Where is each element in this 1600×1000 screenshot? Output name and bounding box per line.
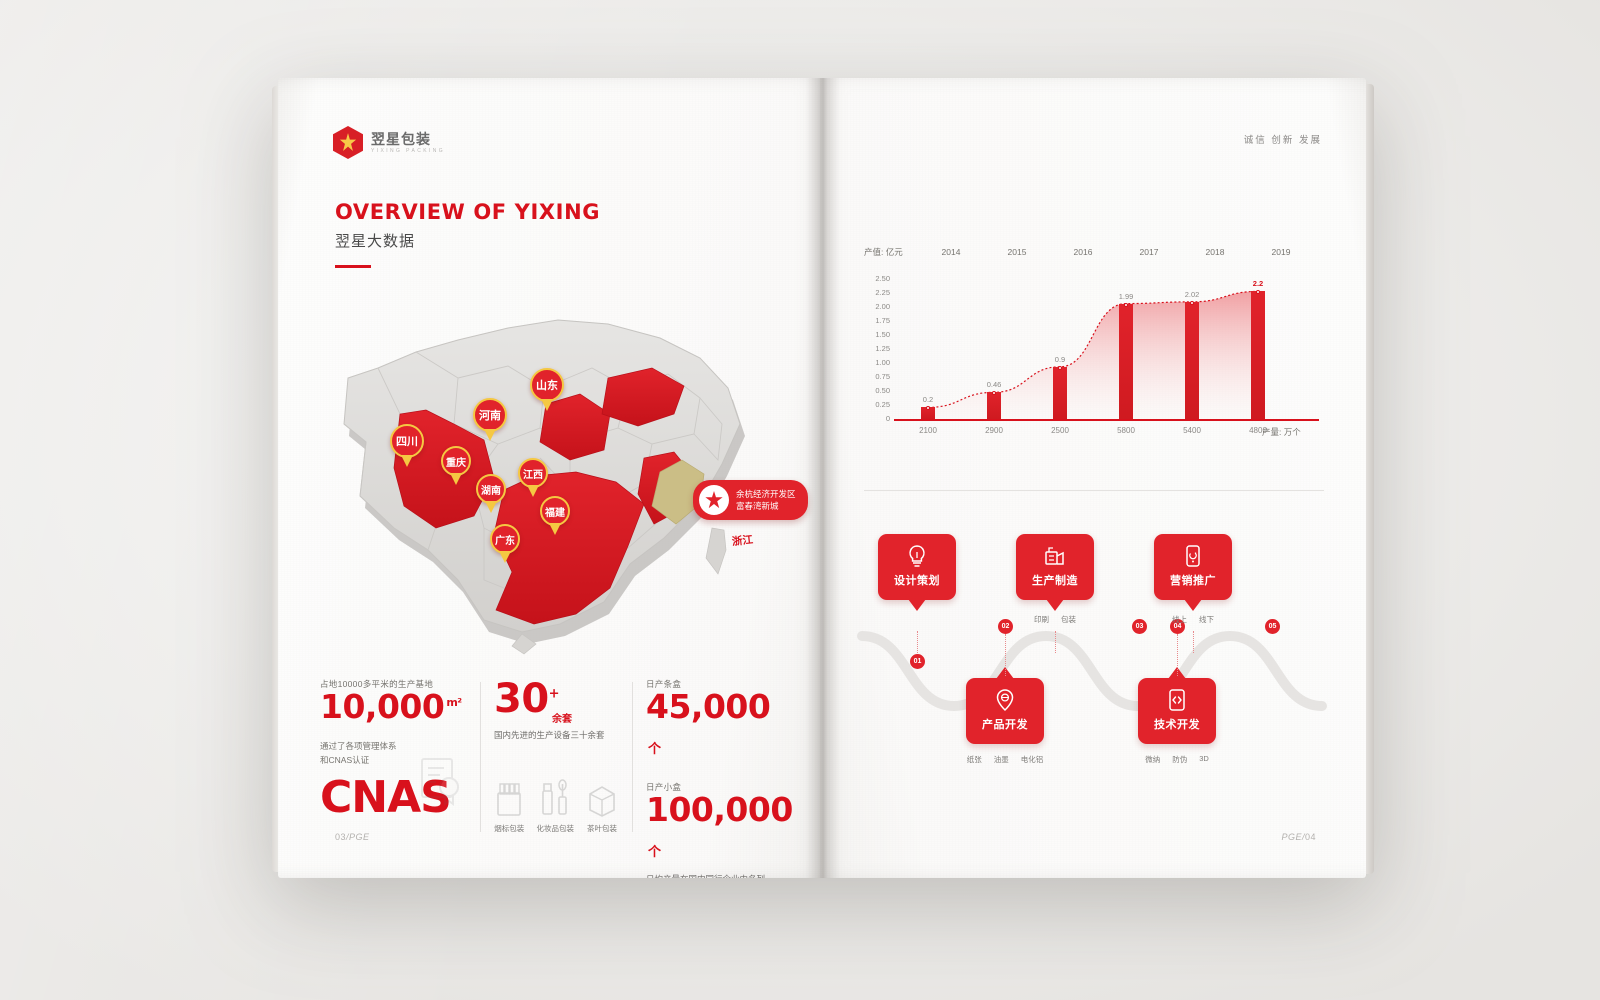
package-type-item: 烟标包装	[494, 771, 525, 834]
map-pin-label: 四川	[390, 424, 424, 458]
page-number-right: PGE/04	[1281, 832, 1316, 842]
map-pin-label: 重庆	[441, 446, 471, 476]
process-tags-product: 纸张 油墨 电化铝	[950, 754, 1060, 765]
left-page: 翌星包装 YIXING PACKING OVERVIEW OF YIXING 翌…	[278, 78, 824, 878]
y-tick: 2.50	[864, 274, 890, 283]
chart-value-label: 0.46	[987, 380, 1002, 389]
map-pin-label: 河南	[473, 398, 507, 432]
chart-bar	[987, 392, 1001, 419]
process-tag: 印刷	[1034, 614, 1049, 625]
process-card-product[interactable]: 产品开发	[966, 678, 1044, 744]
pin-tail	[549, 523, 561, 535]
pin-tail	[541, 399, 553, 411]
lightbulb-icon	[878, 534, 956, 568]
package-type-label: 化妆品包装	[537, 823, 575, 834]
map-pin-guangdong[interactable]: 广东	[490, 524, 520, 568]
chart-value-label: 0.9	[1055, 355, 1065, 364]
y-tick: 0.25	[864, 400, 890, 409]
chart-value-label: 2.02	[1185, 290, 1200, 299]
carton-unit: 个	[648, 742, 661, 757]
tea-box-icon	[586, 771, 618, 817]
process-tag: 油墨	[994, 754, 1009, 765]
map-pin-fujian[interactable]: 福建	[540, 496, 570, 540]
card-pointer	[1046, 599, 1064, 611]
y-tick: 2.25	[864, 288, 890, 297]
connector-dots	[917, 631, 918, 653]
process-tag: 包装	[1061, 614, 1076, 625]
section-divider	[864, 490, 1324, 491]
chart-output-label: 5800	[1117, 426, 1135, 435]
chart-point	[1256, 290, 1260, 294]
map-pin-henan[interactable]: 河南	[473, 398, 507, 442]
chart-point	[1058, 366, 1062, 370]
pin-tail	[450, 473, 462, 485]
process-step-number: 05	[1265, 619, 1280, 634]
chart-ylabel: 产值: 亿元	[864, 246, 918, 258]
stat-area-cert: 占地10000多平米的生产基地 10,000m² 通过了各项管理体系 和CNAS…	[320, 678, 480, 848]
certificate-seal-icon	[418, 756, 464, 806]
mobile-phone-icon	[1154, 534, 1232, 568]
chart-value-label: 1.99	[1119, 292, 1134, 301]
factory-icon	[1016, 534, 1094, 568]
process-tag: 微纳	[1145, 754, 1160, 765]
process-tag: 防伪	[1172, 754, 1187, 765]
package-type-label: 茶叶包装	[586, 823, 618, 834]
star-marker-icon	[699, 485, 729, 515]
chart-year-tick: 2016	[1050, 247, 1116, 257]
process-tag: 纸张	[967, 754, 982, 765]
chart-bars: 0.20.460.91.992.022.2	[894, 274, 1319, 419]
map-pin-label: 湖南	[476, 474, 506, 504]
process-card-label: 产品开发	[966, 712, 1044, 744]
y-tick: 1.25	[864, 344, 890, 353]
map-svg	[308, 228, 808, 658]
process-tags-manufacture: 印刷 包装	[1000, 614, 1110, 625]
chart-baseline	[894, 419, 1319, 421]
carton-value: 45,000个	[646, 690, 768, 759]
code-document-icon	[1138, 678, 1216, 712]
pin-tail	[485, 501, 497, 513]
connector-dots	[1177, 634, 1178, 676]
chart-header-row: 产值: 亿元 2014 2015 2016 2017 2018 2019	[864, 246, 1324, 258]
process-card-marketing[interactable]: 营销推广	[1154, 534, 1232, 600]
cigarette-pack-icon	[494, 771, 525, 817]
process-card-label: 生产制造	[1016, 568, 1094, 600]
chart-year-tick: 2019	[1248, 247, 1314, 257]
process-card-label: 技术开发	[1138, 712, 1216, 744]
chart-xlabel: 产量: 万个	[1262, 426, 1301, 438]
map-pin-label: 江西	[518, 458, 548, 488]
box-unit: 个	[648, 845, 661, 860]
chart-output-label: 5400	[1183, 426, 1201, 435]
china-map: 山东 河南 四川 重庆 湖南 江西	[308, 228, 808, 658]
header-slogan: 诚信 创新 发展	[1244, 132, 1322, 146]
process-diagram: 设计策划 01 产品开发 纸张 油墨 电化铝	[856, 518, 1332, 798]
equipment-desc: 国内先进的生产设备三十余套	[494, 729, 618, 741]
brand-logo: 翌星包装 YIXING PACKING	[333, 126, 445, 159]
process-card-technology[interactable]: 技术开发	[1138, 678, 1216, 744]
chart-point	[1190, 301, 1194, 305]
map-pin-label: 山东	[530, 368, 564, 402]
chart-output-label: 2900	[985, 426, 1003, 435]
process-step-number: 01	[910, 654, 925, 669]
hq-callout[interactable]: 余杭经济开发区 富春湾新城	[693, 480, 808, 520]
chart-bar	[1119, 304, 1133, 419]
process-tags-technology: 微纳 防伪 3D	[1122, 754, 1232, 765]
chart-value-label: 2.2	[1253, 279, 1263, 288]
stat-equipment: 30+ 余套 国内先进的生产设备三十余套	[480, 678, 632, 848]
chart-point	[1124, 303, 1128, 307]
y-tick: 0.50	[864, 386, 890, 395]
connector-dots	[1193, 631, 1194, 653]
brand-name-cn: 翌星包装	[371, 132, 445, 146]
stat-daily-output: 日产条盒 45,000个 日产小盒 100,000个 日均产量在国内同行企业中名…	[632, 678, 782, 848]
process-card-manufacture[interactable]: 生产制造	[1016, 534, 1094, 600]
process-card-label: 营销推广	[1154, 568, 1232, 600]
map-pin-label: 福建	[540, 496, 570, 526]
chart-output-label: 2100	[919, 426, 937, 435]
area-unit: m²	[446, 696, 461, 709]
process-tag: 线上	[1172, 614, 1187, 625]
brand-name-en: YIXING PACKING	[371, 149, 445, 154]
process-wave	[856, 614, 1332, 724]
package-type-list: 烟标包装 化妆品包装	[494, 771, 618, 834]
callout-line-2: 富春湾新城	[736, 500, 796, 512]
y-tick: 0.75	[864, 372, 890, 381]
hexagon-star-logo-icon	[333, 126, 363, 159]
output-footnote: 日均产量在国内同行企业中名列前茅	[646, 873, 768, 878]
map-pin-sichuan[interactable]: 四川	[390, 424, 424, 468]
equipment-suffix: 余套	[552, 710, 618, 725]
pin-tail	[401, 455, 413, 467]
y-tick: 0	[864, 414, 890, 423]
map-pin-chongqing[interactable]: 重庆	[441, 446, 471, 490]
chart-year-tick: 2017	[1116, 247, 1182, 257]
connector-dots	[1055, 631, 1056, 653]
chart-year-tick: 2014	[918, 247, 984, 257]
map-pin-label: 广东	[490, 524, 520, 554]
chart-bar	[1053, 367, 1067, 419]
equipment-plus: +	[549, 687, 559, 702]
area-value: 10,000m²	[320, 690, 466, 725]
pin-tail	[527, 485, 539, 497]
package-type-item: 茶叶包装	[586, 771, 618, 834]
y-tick: 1.50	[864, 330, 890, 339]
box-value: 100,000个	[646, 793, 768, 862]
y-tick: 2.00	[864, 302, 890, 311]
chart-year-tick: 2015	[984, 247, 1050, 257]
chart-output-label: 2500	[1051, 426, 1069, 435]
chart-bar	[1185, 302, 1199, 419]
map-pin-hunan[interactable]: 湖南	[476, 474, 506, 518]
process-tag: 电化铝	[1021, 754, 1044, 765]
process-card-label: 设计策划	[878, 568, 956, 600]
callout-line-1: 余杭经济开发区	[736, 488, 796, 500]
card-pointer	[908, 599, 926, 611]
y-tick: 1.00	[864, 358, 890, 367]
title-english: OVERVIEW OF YIXING	[335, 200, 600, 224]
chart-point	[926, 406, 930, 410]
right-page: 诚信 创新 发展 产值: 亿元 2014 2015 2016 2017 2018…	[820, 78, 1366, 878]
page-number-left: 03/PGE	[335, 832, 370, 842]
connector-dots	[1005, 634, 1006, 676]
process-tag: 线下	[1199, 614, 1214, 625]
stats-row: 占地10000多平米的生产基地 10,000m² 通过了各项管理体系 和CNAS…	[320, 678, 782, 848]
chart-plot-area: 2.50 2.25 2.00 1.75 1.50 1.25 1.00 0.75 …	[864, 274, 1324, 434]
process-tags-marketing: 线上 线下	[1138, 614, 1248, 625]
pin-tail	[499, 551, 511, 563]
zhejiang-label: 浙江	[731, 532, 753, 549]
revenue-chart: 产值: 亿元 2014 2015 2016 2017 2018 2019 2.5…	[864, 246, 1324, 466]
card-pointer	[1184, 599, 1202, 611]
chart-point	[992, 391, 996, 395]
process-card-design[interactable]: 设计策划	[878, 534, 956, 600]
lipstick-icon	[537, 771, 575, 817]
chart-bar	[1251, 291, 1265, 419]
brochure-spread: 翌星包装 YIXING PACKING OVERVIEW OF YIXING 翌…	[278, 78, 1366, 878]
package-type-label: 烟标包装	[494, 823, 525, 834]
chart-year-tick: 2018	[1182, 247, 1248, 257]
y-tick: 1.75	[864, 316, 890, 325]
package-type-item: 化妆品包装	[537, 771, 575, 834]
chart-value-label: 0.2	[923, 395, 933, 404]
process-tag: 3D	[1199, 754, 1209, 765]
map-pin-shandong[interactable]: 山东	[530, 368, 564, 412]
pin-tail	[484, 429, 496, 441]
product-pin-icon	[966, 678, 1044, 712]
